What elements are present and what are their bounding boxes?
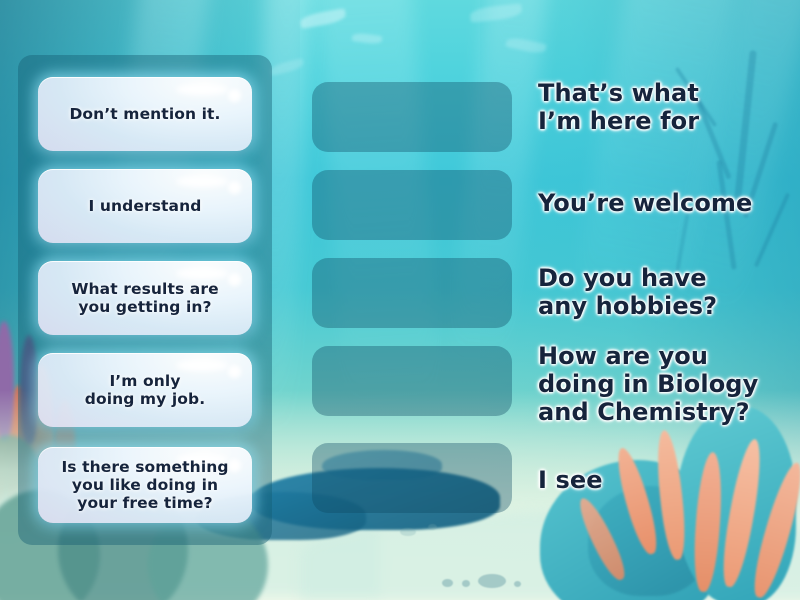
card-label: I understand (79, 197, 212, 215)
pebble-icon (478, 574, 506, 588)
card-shine-icon (176, 360, 228, 371)
fish-icon (299, 8, 347, 29)
card-label: Don’t mention it. (59, 105, 230, 123)
drop-target[interactable] (312, 82, 512, 152)
pebble-icon (428, 524, 437, 530)
answer-prompt: How are you doing in Biology and Chemist… (538, 343, 794, 426)
pebble-icon (514, 581, 521, 587)
card-shine-icon (176, 176, 228, 187)
fish-icon (469, 3, 522, 22)
card-shine-icon (176, 84, 228, 95)
answer-prompt: That’s what I’m here for (538, 80, 794, 136)
drop-target[interactable] (312, 170, 512, 240)
card-shine-dot-icon (228, 89, 241, 102)
draggable-cards-panel: Don’t mention it. I understand What resu… (18, 55, 272, 545)
drop-target[interactable] (312, 346, 512, 416)
draggable-card[interactable]: I understand (38, 169, 252, 243)
fish-icon (352, 32, 383, 45)
pebble-icon (400, 528, 416, 536)
card-label: Is there something you like doing in you… (51, 458, 238, 513)
card-shine-icon (176, 268, 228, 279)
card-shine-dot-icon (228, 273, 241, 286)
draggable-card[interactable]: I’m only doing my job. (38, 353, 252, 427)
draggable-card[interactable]: What results are you getting in? (38, 261, 252, 335)
answer-prompt: You’re welcome (538, 190, 794, 218)
pebble-icon (442, 579, 453, 587)
fish-icon (269, 58, 304, 76)
card-label: What results are you getting in? (61, 280, 228, 317)
card-label: I’m only doing my job. (75, 372, 215, 409)
drop-target[interactable] (312, 258, 512, 328)
match-up-activity-stage: Don’t mention it. I understand What resu… (0, 0, 800, 600)
draggable-card[interactable]: Don’t mention it. (38, 77, 252, 151)
answer-prompt: I see (538, 467, 794, 495)
drop-target[interactable] (312, 443, 512, 513)
card-shine-dot-icon (228, 181, 241, 194)
card-shine-dot-icon (228, 365, 241, 378)
fish-icon (505, 36, 546, 55)
pebble-icon (462, 580, 470, 587)
answer-prompt: Do you have any hobbies? (538, 265, 794, 321)
sand-dune (300, 510, 800, 600)
draggable-card[interactable]: Is there something you like doing in you… (38, 447, 252, 523)
